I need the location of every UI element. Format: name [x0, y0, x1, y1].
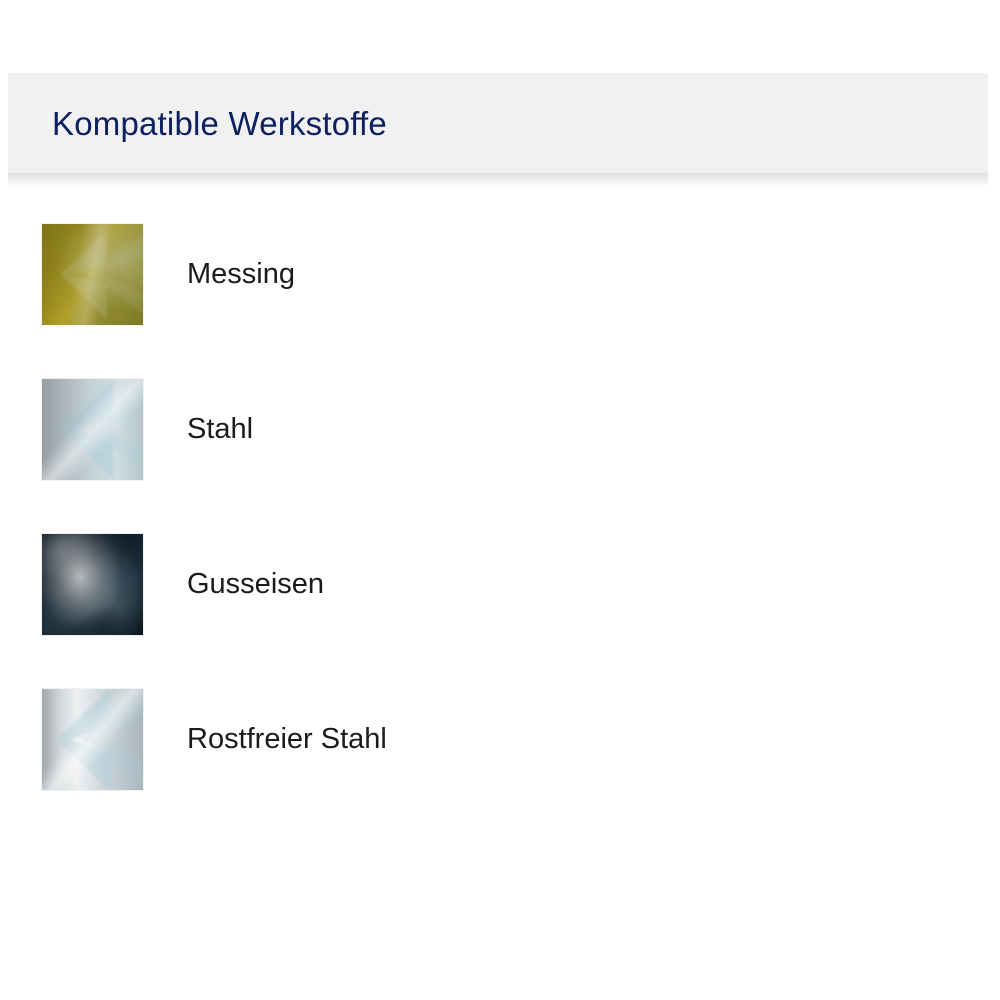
material-item-kupfer[interactable]: Kupfer	[524, 197, 1000, 352]
steel-texture-thumbnail[interactable]	[42, 379, 143, 480]
page-root: Kompatible Werkstoffe Messing	[0, 0, 1000, 1000]
compatible-materials-card: Kompatible Werkstoffe Messing	[8, 73, 988, 817]
material-item-verbundwerkstoffe[interactable]: Verbundwerkstoffe	[524, 662, 1000, 817]
cast-iron-texture-thumbnail[interactable]	[42, 534, 143, 635]
card-header: Kompatible Werkstoffe	[8, 73, 988, 173]
material-item-rostfreier-stahl[interactable]: Rostfreier Stahl	[8, 662, 524, 817]
stainless-steel-texture-thumbnail[interactable]	[42, 689, 143, 790]
material-item-zinn[interactable]: Zinn	[524, 352, 1000, 507]
brass-texture-thumbnail[interactable]	[42, 224, 143, 325]
material-item-gusseisen[interactable]: Gusseisen	[8, 507, 524, 662]
material-item-stahl[interactable]: Stahl	[8, 352, 524, 507]
material-label: Stahl	[187, 414, 253, 446]
material-item-aluminum[interactable]: Aluminum	[524, 507, 1000, 662]
material-item-messing[interactable]: Messing	[8, 197, 524, 352]
material-label: Gusseisen	[187, 569, 324, 601]
material-label: Messing	[187, 259, 295, 291]
page-title: Kompatible Werkstoffe	[52, 107, 387, 140]
material-grid: Messing Kupfer	[8, 173, 988, 817]
material-label: Rostfreier Stahl	[187, 724, 387, 756]
